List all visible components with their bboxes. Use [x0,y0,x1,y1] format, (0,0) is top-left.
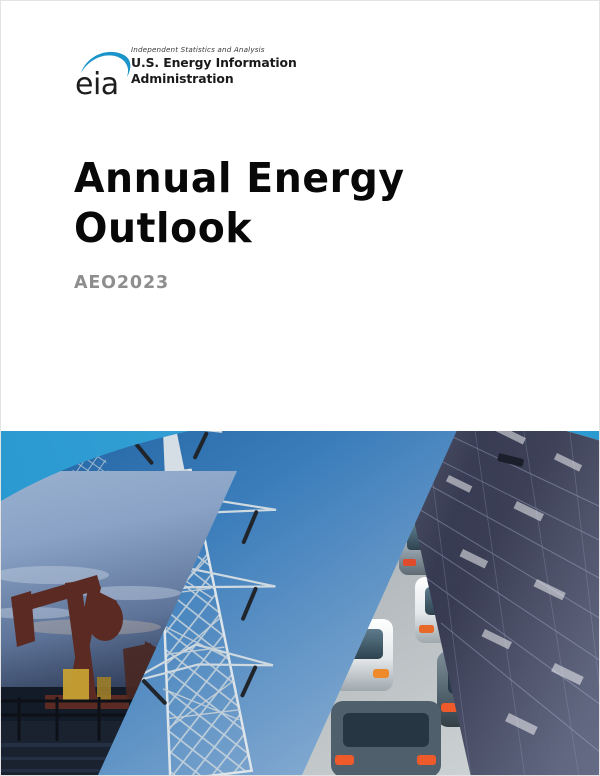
publisher-name-line-2: Administration [131,71,336,87]
report-title-line-2: Outlook [74,203,405,253]
report-edition-label: AEO2023 [74,272,408,293]
publisher-tagline: Independent Statistics and Analysis [131,45,336,55]
eia-logo-text: Independent Statistics and Analysis U.S.… [131,45,336,86]
eia-logo-mark-icon: eia [75,47,133,101]
cover-title-block: Annual Energy Outlook AEO2023 [74,153,418,293]
eia-logo: eia Independent Statistics and Analysis … [75,45,335,107]
svg-text:eia: eia [75,67,119,101]
publisher-name-line-1: U.S. Energy Information [131,55,336,71]
report-cover-page: eia Independent Statistics and Analysis … [0,0,600,776]
cover-artwork [1,1,600,776]
report-title-line-1: Annual Energy [74,153,405,203]
